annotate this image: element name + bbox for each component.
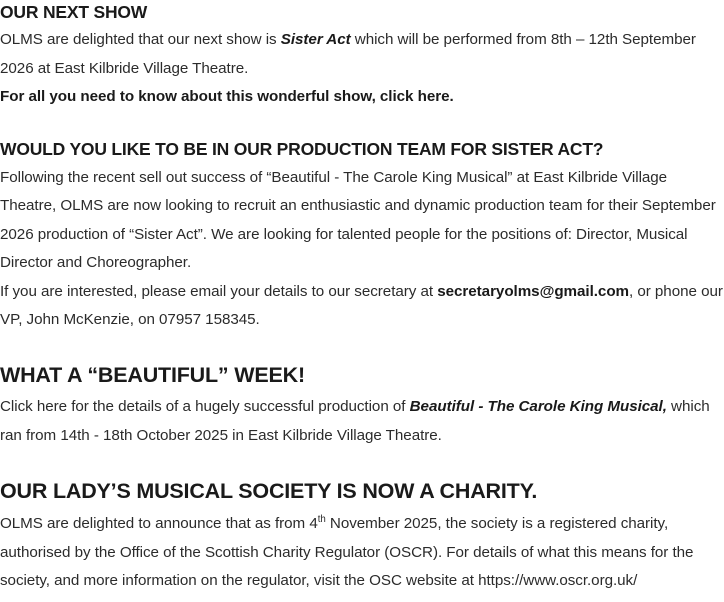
paragraph-beautiful-week: Click here for the details of a hugely s… — [0, 393, 724, 450]
charity-text-before: OLMS are delighted to announce that as f… — [0, 515, 318, 532]
link-oscr-website[interactable]: https://www.oscr.org.uk/ — [478, 572, 637, 589]
link-click-here-sister-act[interactable]: For all you need to know about this wond… — [0, 88, 454, 105]
show-title-sister-act: Sister Act — [281, 31, 351, 48]
beautiful-text-before[interactable]: Click here for the details of a hugely s… — [0, 398, 410, 415]
email-secretary[interactable]: secretaryolms@gmail.com — [437, 283, 629, 300]
paragraph-production-contact: If you are interested, please email your… — [0, 278, 724, 335]
section-charity: OUR LADY’S MUSICAL SOCIETY IS NOW A CHAR… — [0, 450, 724, 595]
heading-our-next-show: OUR NEXT SHOW — [0, 2, 724, 22]
ordinal-suffix: th — [318, 514, 326, 525]
next-show-text-before: OLMS are delighted that our next show is — [0, 31, 281, 48]
show-title-beautiful: Beautiful - The Carole King Musical, — [410, 398, 667, 415]
heading-charity: OUR LADY’S MUSICAL SOCIETY IS NOW A CHAR… — [0, 479, 724, 504]
paragraph-charity: OLMS are delighted to announce that as f… — [0, 510, 724, 596]
section-production-team: WOULD YOU LIKE TO BE IN OUR PRODUCTION T… — [0, 112, 724, 335]
paragraph-next-show: OLMS are delighted that our next show is… — [0, 26, 724, 83]
section-beautiful-week: WHAT A “BEAUTIFUL” WEEK! Click here for … — [0, 335, 724, 451]
heading-production-team: WOULD YOU LIKE TO BE IN OUR PRODUCTION T… — [0, 139, 724, 159]
paragraph-next-show-cta: For all you need to know about this wond… — [0, 83, 724, 112]
paragraph-production-team: Following the recent sell out success of… — [0, 164, 724, 278]
heading-beautiful-week: WHAT A “BEAUTIFUL” WEEK! — [0, 363, 724, 388]
section-next-show: OUR NEXT SHOW OLMS are delighted that ou… — [0, 0, 724, 112]
article-page: OUR NEXT SHOW OLMS are delighted that ou… — [0, 0, 724, 602]
contact-text-before: If you are interested, please email your… — [0, 283, 437, 300]
